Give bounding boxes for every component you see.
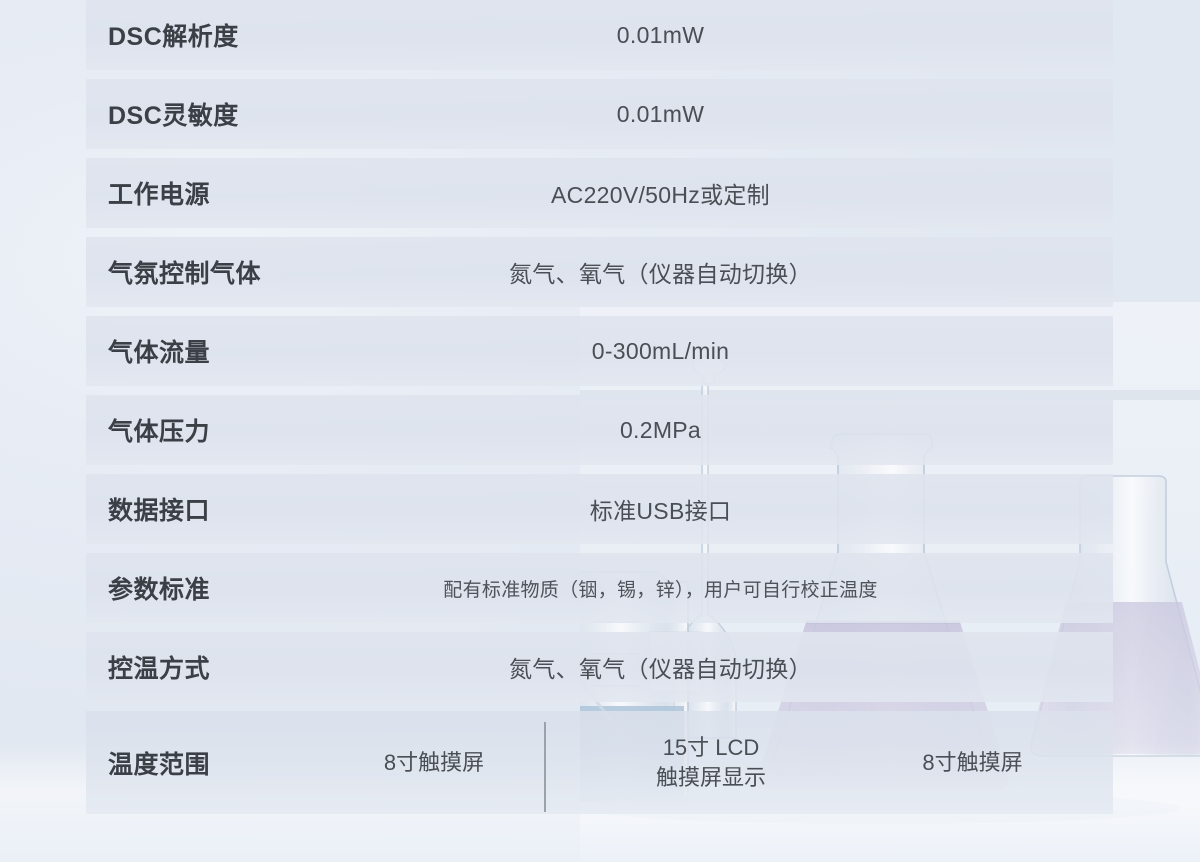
spec-label: 工作电源 bbox=[86, 175, 318, 211]
table-row: 气体流量 0-300mL/min bbox=[86, 316, 1113, 386]
spec-value: 氮气、氧气（仪器自动切换） bbox=[318, 255, 1113, 289]
display-option-b-line2: 触摸屏显示 bbox=[550, 763, 872, 793]
spec-value: 0.01mW bbox=[318, 22, 1113, 49]
table-row: 气体压力 0.2MPa bbox=[86, 395, 1113, 465]
spec-value: 标准USB接口 bbox=[318, 492, 1113, 526]
vertical-divider bbox=[544, 722, 546, 812]
spec-label: DSC灵敏度 bbox=[86, 96, 318, 132]
spec-value: 配有标准物质（铟，锡，锌），用户可自行校正温度 bbox=[318, 575, 1113, 602]
display-option-c: 8寸触摸屏 bbox=[872, 748, 1113, 778]
table-row: 数据接口 标准USB接口 bbox=[86, 474, 1113, 544]
spec-value: 0.2MPa bbox=[318, 417, 1113, 444]
spec-value: 氮气、氧气（仪器自动切换） bbox=[318, 650, 1113, 684]
display-option-b-line1: 15寸 LCD bbox=[550, 733, 872, 763]
table-row: DSC解析度 0.01mW bbox=[86, 0, 1113, 70]
table-row-temperature-range: 温度范围 8寸触摸屏 15寸 LCD 触摸屏显示 8寸触摸屏 bbox=[86, 711, 1113, 814]
spec-value: 0.01mW bbox=[318, 101, 1113, 128]
spec-label: 气体流量 bbox=[86, 333, 318, 369]
spec-label: 数据接口 bbox=[86, 491, 318, 527]
display-option-b: 15寸 LCD 触摸屏显示 bbox=[550, 733, 872, 792]
table-row: 气氛控制气体 氮气、氧气（仪器自动切换） bbox=[86, 237, 1113, 307]
spec-label: 气氛控制气体 bbox=[86, 254, 318, 290]
spec-label: 气体压力 bbox=[86, 412, 318, 448]
spec-value: AC220V/50Hz或定制 bbox=[318, 176, 1113, 210]
specification-table: DSC解析度 0.01mW DSC灵敏度 0.01mW 工作电源 AC220V/… bbox=[86, 0, 1113, 814]
display-option-a: 8寸触摸屏 bbox=[318, 748, 550, 778]
table-row: 控温方式 氮气、氧气（仪器自动切换） bbox=[86, 632, 1113, 702]
spec-label: 参数标准 bbox=[86, 570, 318, 606]
spec-label: 控温方式 bbox=[86, 649, 318, 685]
table-row: 工作电源 AC220V/50Hz或定制 bbox=[86, 158, 1113, 228]
table-row: DSC灵敏度 0.01mW bbox=[86, 79, 1113, 149]
spec-label: DSC解析度 bbox=[86, 17, 318, 53]
table-row: 参数标准 配有标准物质（铟，锡，锌），用户可自行校正温度 bbox=[86, 553, 1113, 623]
spec-label: 温度范围 bbox=[86, 745, 318, 781]
display-options-group: 8寸触摸屏 15寸 LCD 触摸屏显示 8寸触摸屏 bbox=[318, 711, 1113, 814]
spec-value: 0-300mL/min bbox=[318, 338, 1113, 365]
